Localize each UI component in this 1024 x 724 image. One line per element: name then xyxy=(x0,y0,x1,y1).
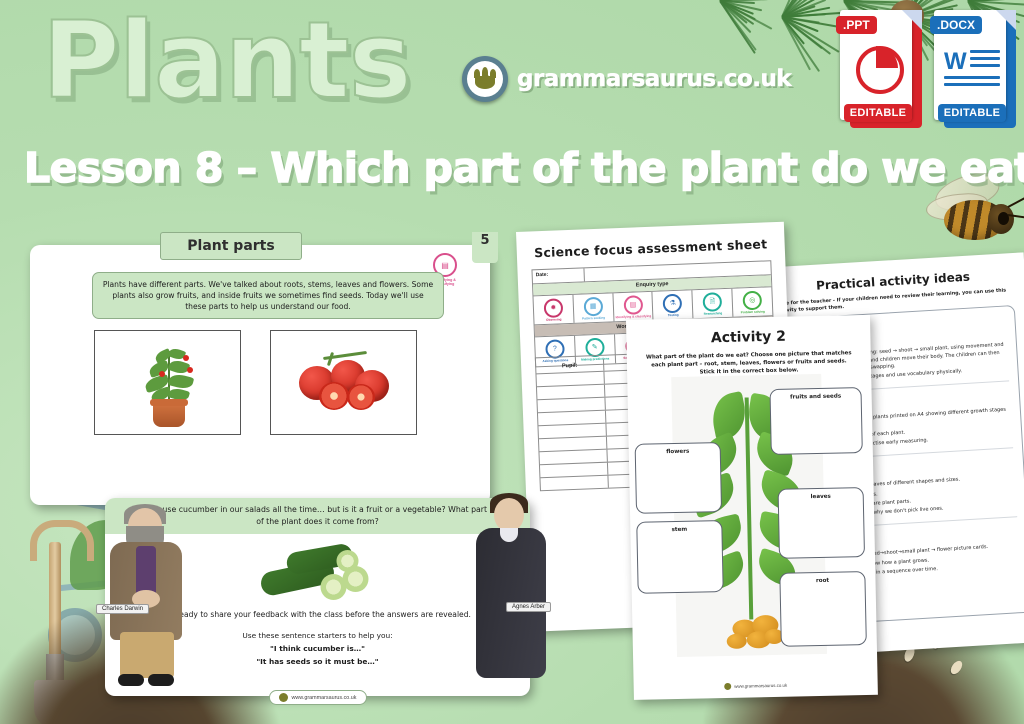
format-badges: .PPT EDITABLE W .DOCX EDITABLE xyxy=(840,10,1016,128)
agnes-name-tag: Agnes Arber xyxy=(506,602,551,612)
assessment-title: Science focus assessment sheet xyxy=(517,236,785,261)
ppt-tag: .PPT xyxy=(836,16,877,34)
footer-url: www.grammarsaurus.co.uk xyxy=(291,695,356,701)
slide-body-text: Plants have different parts. We've talke… xyxy=(92,272,444,319)
logo-initial: G xyxy=(480,73,490,87)
doc-lines-icon xyxy=(944,76,1000,90)
agnes-arber-illustration: Agnes Arber xyxy=(470,498,556,686)
logo-dot-icon xyxy=(724,683,731,690)
cucumber-image xyxy=(260,546,375,602)
drop-box-label: root xyxy=(816,578,829,584)
enquiry-observing[interactable]: ✹ Observing xyxy=(533,295,574,325)
enquiry-identifying-classifying[interactable]: ▤ Identifying & classifying xyxy=(613,292,654,322)
activity-instruction: What part of the plant do we eat? Choose… xyxy=(643,349,855,378)
slide-title: Plant parts xyxy=(160,232,302,260)
drop-box-label: stem xyxy=(672,527,688,533)
drop-box-stem[interactable]: stem xyxy=(636,520,723,594)
doc-lines-icon xyxy=(970,50,1000,71)
footer-url: www.grammarsaurus.co.uk xyxy=(734,683,787,689)
tomatoes-image xyxy=(270,330,417,435)
brand-name: grammarsaurus.co.uk xyxy=(517,66,791,92)
logo-dot-icon xyxy=(278,693,287,702)
lesson-subtitle: Lesson 8 – Which part of the plant do we… xyxy=(24,148,1024,189)
drop-box-leaves[interactable]: leaves xyxy=(778,487,865,559)
drop-box-flowers[interactable]: flowers xyxy=(635,442,722,514)
activity-2-sheet[interactable]: Activity 2 What part of the plant do we … xyxy=(626,315,878,700)
enquiry-problem-solving[interactable]: ◎ Problem solving xyxy=(732,287,772,317)
activity-title: Activity 2 xyxy=(626,327,870,348)
charles-darwin-illustration: Charles Darwin xyxy=(98,508,194,688)
drop-box-label: leaves xyxy=(811,494,831,500)
darwin-name-tag: Charles Darwin xyxy=(96,604,149,614)
enquiry-pattern-seeking[interactable]: ▦ Pattern seeking xyxy=(573,293,614,323)
grammarsaurus-logo: G grammarsaurus.co.uk xyxy=(462,56,791,102)
ppt-editable-label: EDITABLE xyxy=(844,104,912,122)
drop-box-label: fruits and seeds xyxy=(790,394,841,401)
date-label: Date: xyxy=(532,268,584,283)
slide2-footer: www.grammarsaurus.co.uk xyxy=(268,690,366,705)
logo-badge-icon: G xyxy=(462,56,508,102)
sentence-starter-2: "It has seeds so it must be…" xyxy=(256,657,378,666)
tomato-plant-image xyxy=(94,330,241,435)
slide-plant-parts[interactable]: Plant parts 5 ▤ Identifying & classifyin… xyxy=(30,245,490,505)
enquiry-researching[interactable]: 🗎 Researching xyxy=(693,289,734,319)
drop-box-label: flowers xyxy=(666,449,689,455)
drop-box-root[interactable]: root xyxy=(779,571,867,647)
docx-badge[interactable]: W .DOCX EDITABLE xyxy=(934,10,1016,128)
docx-editable-label: EDITABLE xyxy=(938,104,1006,122)
slide-page-number: 5 xyxy=(472,232,498,263)
page-title: Plants xyxy=(42,8,411,114)
activity-footer: www.grammarsaurus.co.uk xyxy=(724,682,787,690)
enquiry-testing[interactable]: ⚗ Testing xyxy=(653,290,694,320)
docx-tag: .DOCX xyxy=(930,16,982,34)
word-letter-icon: W xyxy=(944,48,967,76)
sentence-starter-1: "I think cucumber is…" xyxy=(270,644,365,653)
ppt-badge[interactable]: .PPT EDITABLE xyxy=(840,10,922,128)
pie-chart-icon xyxy=(856,46,904,94)
drop-box-fruits-and-seeds[interactable]: fruits and seeds xyxy=(769,387,862,455)
starters-intro: Use these sentence starters to help you: xyxy=(242,631,392,640)
poster-canvas: Plants Lesson 8 – Which part of the plan… xyxy=(0,0,1024,724)
